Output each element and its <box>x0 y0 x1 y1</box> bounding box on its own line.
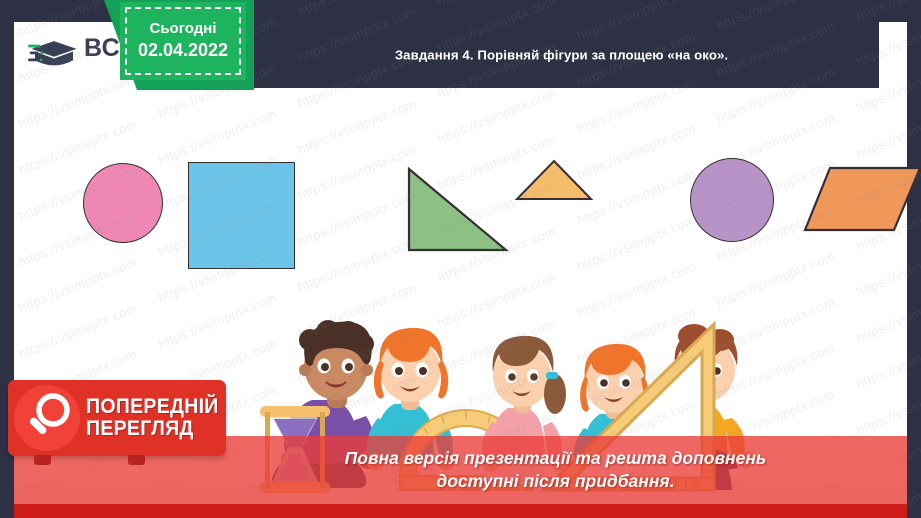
shape-orange-parallelogram <box>802 162 921 242</box>
header-band: Завдання 4. Порівняй фігури за площею «н… <box>244 22 879 88</box>
today-badge: Сьогодні 02.04.2022 <box>120 2 246 80</box>
preview-badge-labels: ПОПЕРЕДНІЙ ПЕРЕГЛЯД <box>86 396 229 440</box>
shape-purple-circle <box>690 158 774 242</box>
magnifier-badge <box>14 385 80 451</box>
shape-green-triangle <box>406 162 518 258</box>
preview-badge-line1: ПОПЕРЕДНІЙ <box>86 396 219 418</box>
today-label: Сьогодні <box>150 20 217 39</box>
page-title: Завдання 4. Порівняй фігури за площею «н… <box>244 48 879 63</box>
today-date: 02.04.2022 <box>138 39 228 62</box>
shape-orange-triangle <box>512 156 596 206</box>
purchase-banner-line2: доступні після придбання. <box>436 471 674 491</box>
shape-blue-square <box>188 162 295 269</box>
preview-badge-line2: ПЕРЕГЛЯД <box>86 418 219 440</box>
graduation-cap-icon <box>28 35 80 75</box>
purchase-banner-text: Повна версія презентації та решта доповн… <box>224 447 887 493</box>
purchase-banner-line1: Повна версія презентації та решта доповн… <box>345 448 767 468</box>
slide-canvas: Завдання 4. Порівняй фігури за площею «н… <box>0 0 921 518</box>
shape-pink-circle <box>83 163 163 243</box>
banner-bottom-strip <box>14 504 907 518</box>
shapes-area <box>14 100 907 290</box>
preview-badge[interactable]: ПОПЕРЕДНІЙ ПЕРЕГЛЯД <box>8 380 226 456</box>
magnifier-icon <box>14 385 80 451</box>
